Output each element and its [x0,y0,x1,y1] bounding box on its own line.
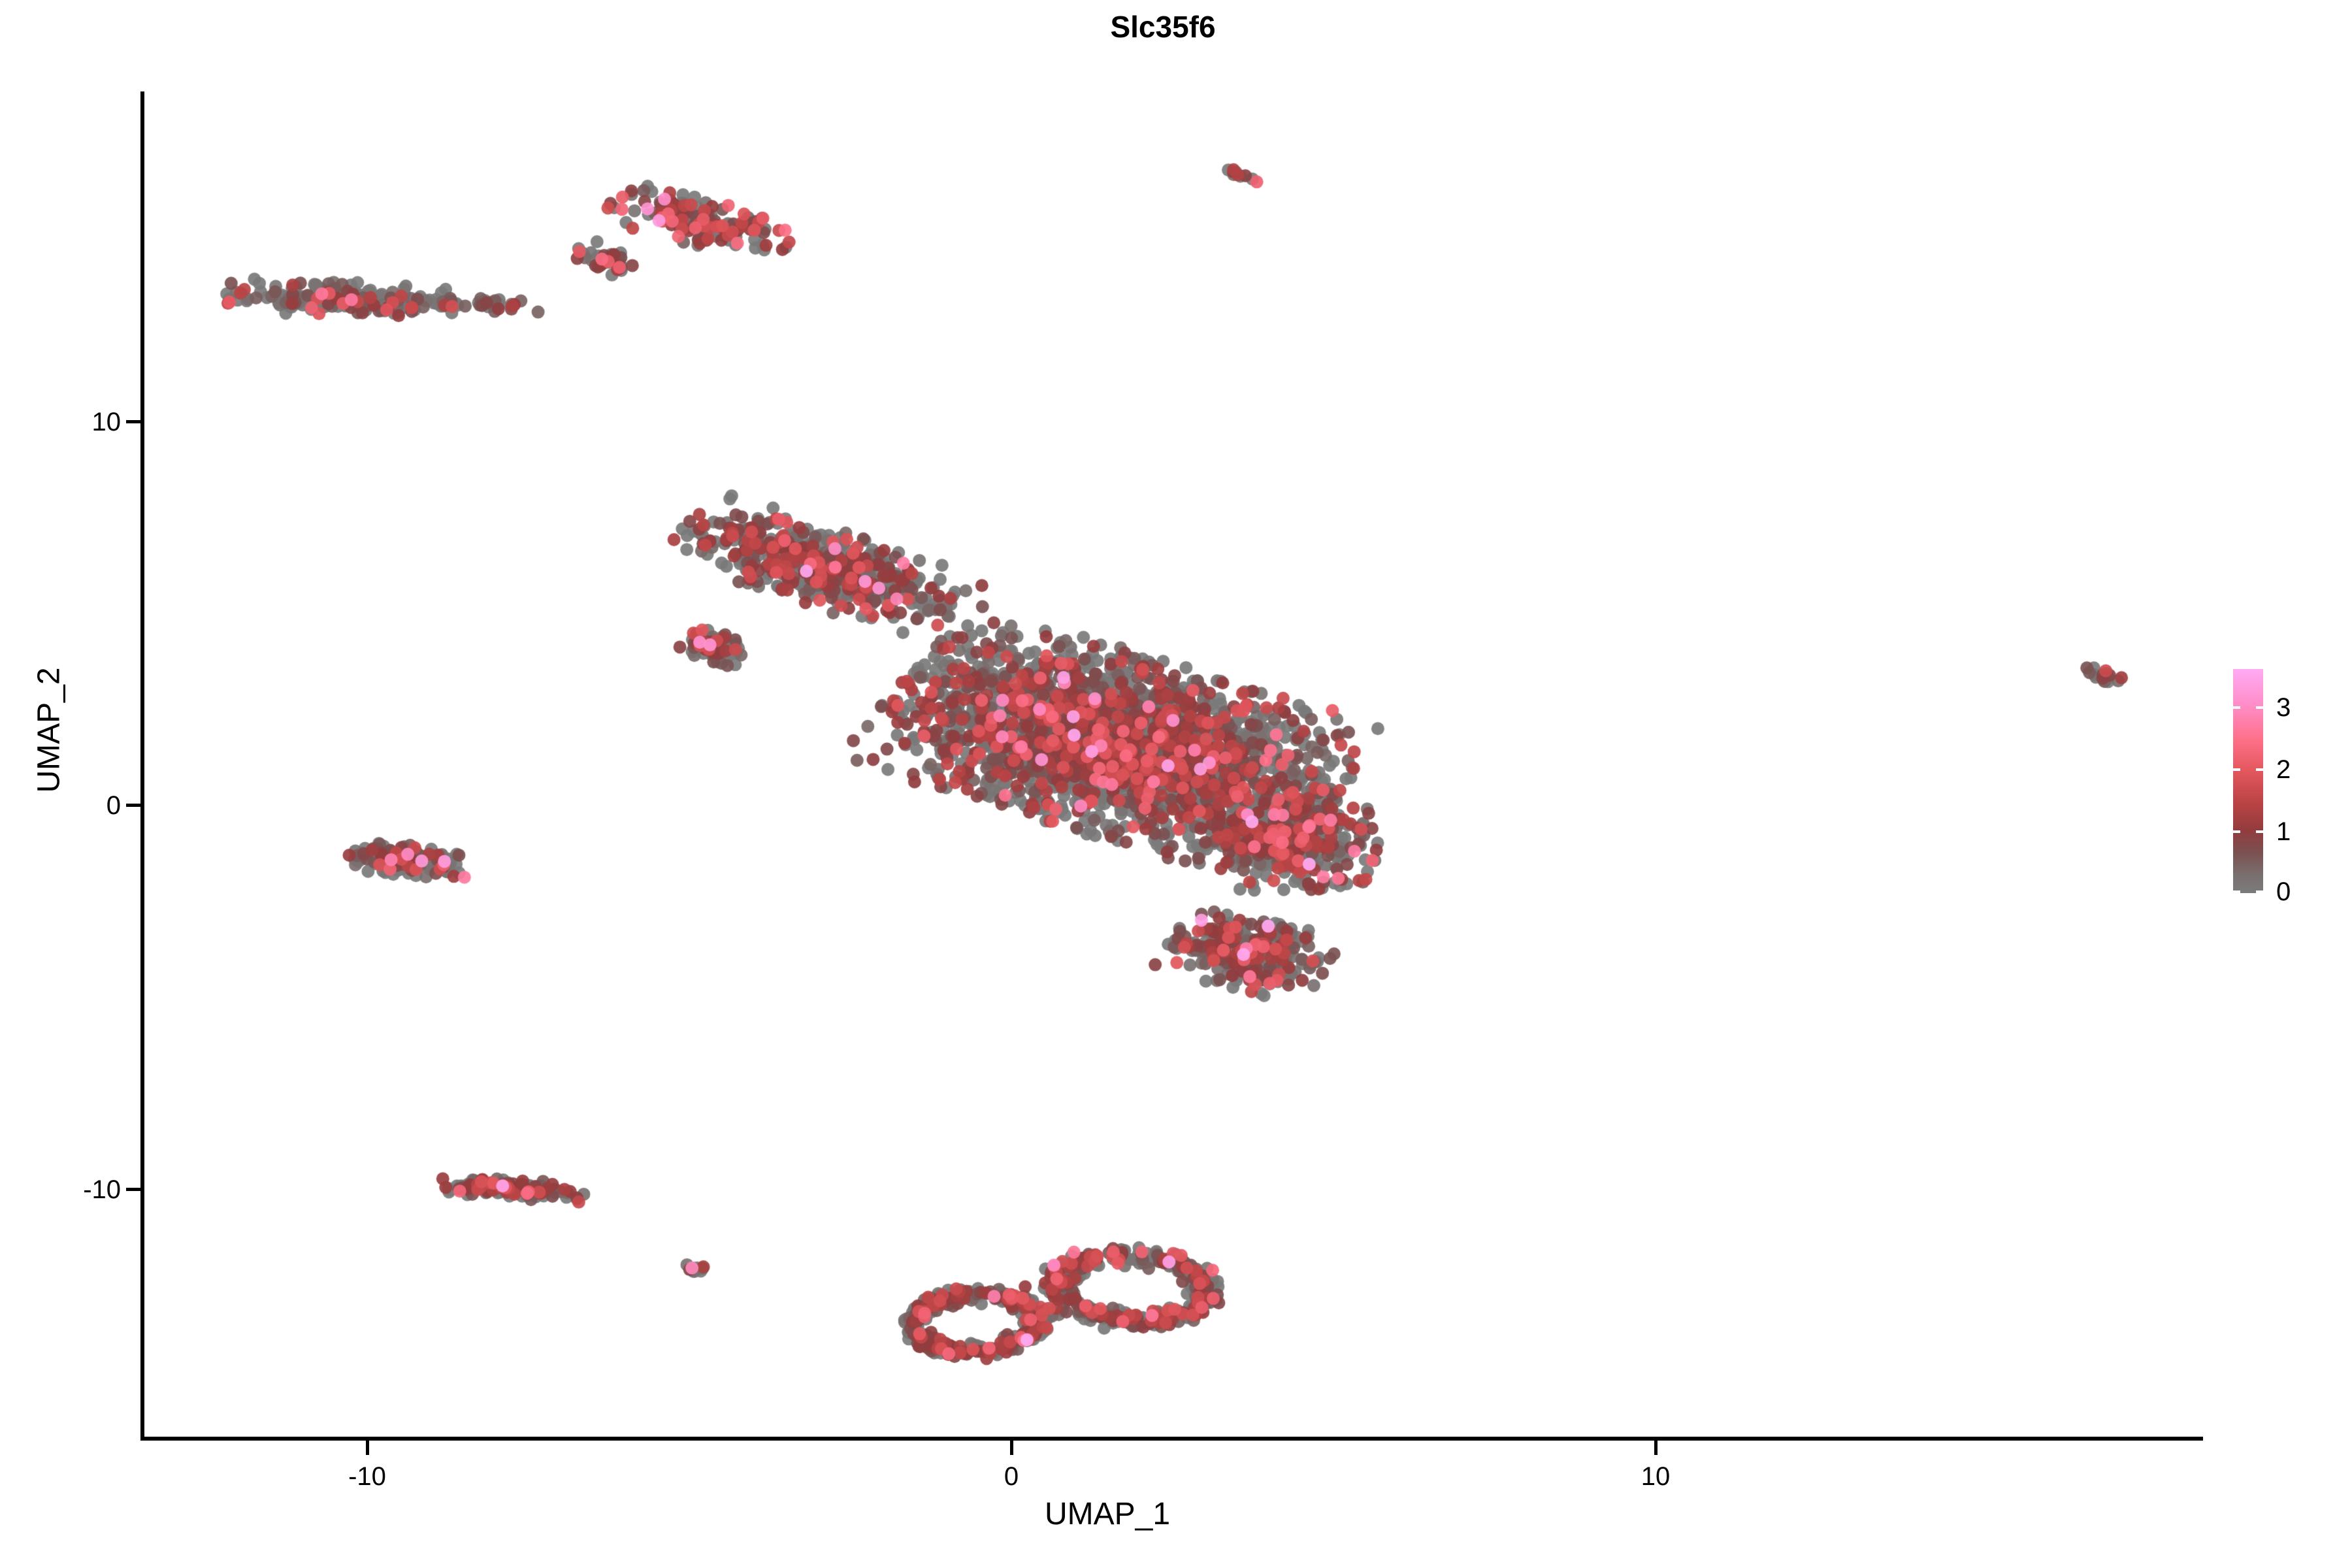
legend-colorbar [2233,669,2263,893]
legend-tick-0-left [2233,890,2240,893]
x-axis-title: UMAP_1 [0,1496,2215,1532]
y-tick-mark-0 [126,804,140,807]
legend-label-1: 1 [2276,817,2291,847]
x-tick-mark-10 [1654,1441,1658,1455]
legend-tick-1-right [2256,830,2263,833]
x-axis-line [140,1437,2203,1441]
legend-label-3: 3 [2276,693,2291,723]
x-tick-label-neg10: -10 [348,1462,386,1492]
y-tick-mark-neg10 [126,1188,140,1191]
legend-label-0: 0 [2276,877,2291,907]
scatter-plot-canvas [144,91,2203,1439]
legend-tick-3-right [2256,706,2263,709]
x-tick-mark-neg10 [366,1441,369,1455]
legend-label-2: 2 [2276,755,2291,785]
y-tick-mark-10 [126,420,140,423]
x-tick-label-10: 10 [1641,1462,1671,1492]
y-tick-label-10: 10 [92,408,122,437]
y-tick-label-0: 0 [106,791,121,821]
color-legend: 3 2 1 0 [2233,669,2338,894]
y-tick-label-neg10: -10 [83,1175,121,1205]
umap-feature-plot: Slc35f6 10 0 -10 -10 0 10 UMAP_2 UMAP_1 … [0,0,2352,1568]
page-title: Slc35f6 [0,9,2339,44]
x-tick-mark-0 [1010,1441,1013,1455]
legend-tick-3-left [2233,706,2240,709]
y-axis-title: UMAP_2 [31,561,67,900]
x-tick-label-0: 0 [1004,1462,1019,1492]
plot-panel [144,91,2203,1439]
legend-tick-0-right [2256,890,2263,893]
legend-tick-1-left [2233,830,2240,833]
y-axis-line [140,91,144,1441]
legend-tick-2-left [2233,768,2240,771]
legend-tick-2-right [2256,768,2263,771]
